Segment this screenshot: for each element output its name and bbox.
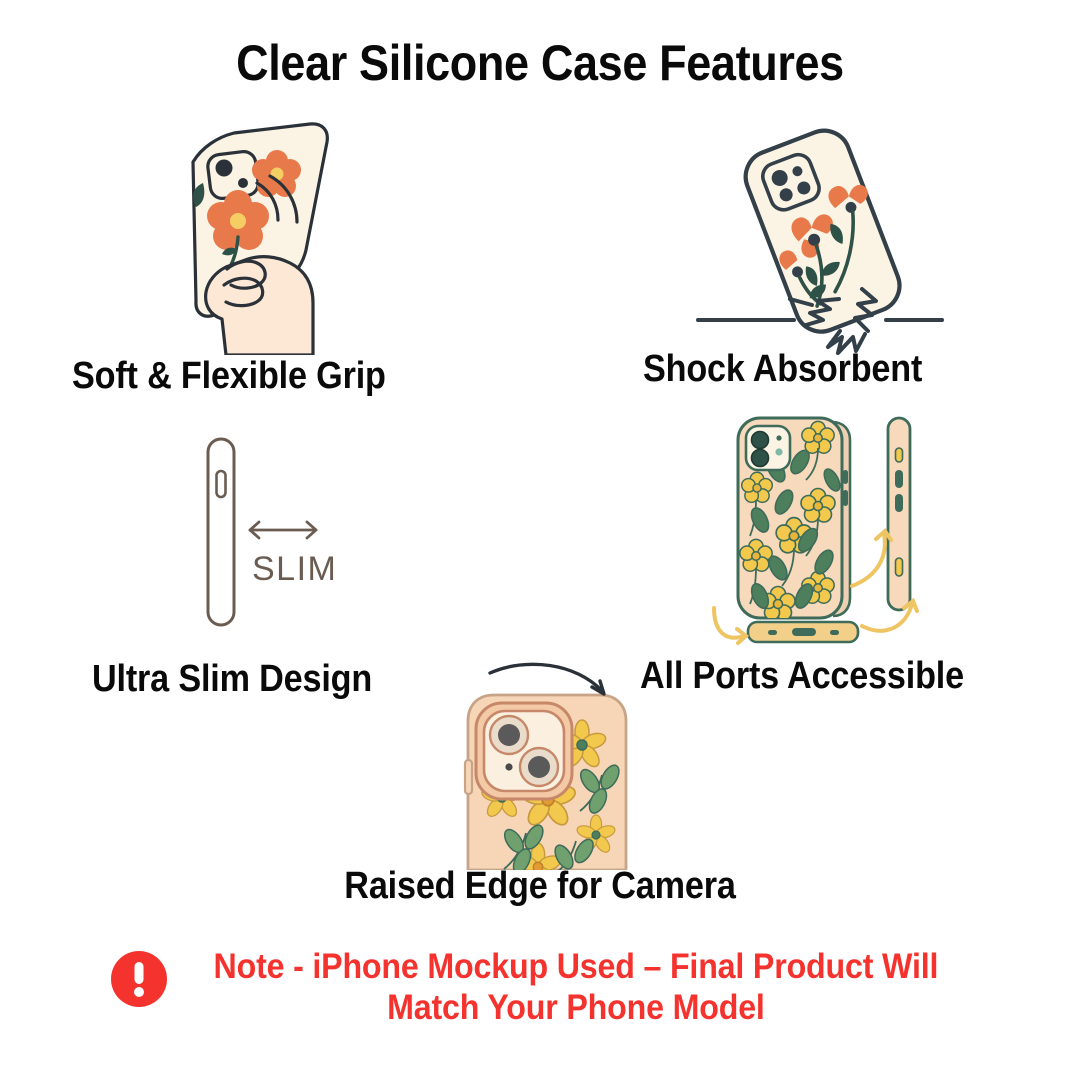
feature-label-grip: Soft & Flexible Grip [72, 355, 386, 398]
note-text: Note - iPhone Mockup Used – Final Produc… [214, 946, 939, 1029]
infographic-page: Clear Silicone Case Features [0, 0, 1080, 1080]
page-title: Clear Silicone Case Features [54, 34, 1026, 92]
note-line-1: Note - iPhone Mockup Used – Final Produc… [214, 947, 939, 986]
hand-flexing-phone-case-illustration [130, 115, 380, 355]
note-line-2: Match Your Phone Model [387, 988, 765, 1027]
phone-case-raised-camera-edge-illustration [430, 655, 650, 870]
feature-label-ports: All Ports Accessible [640, 655, 964, 698]
exclamation-circle-icon [110, 950, 168, 1008]
feature-label-camera: Raised Edge for Camera [54, 865, 1026, 908]
phone-side-profile-slim-illustration: SLIM [170, 425, 370, 640]
note-banner: Note - iPhone Mockup Used – Final Produc… [0, 946, 1080, 1029]
phone-case-impact-illustration [690, 115, 950, 355]
feature-label-slim: Ultra Slim Design [92, 658, 372, 701]
phone-case-ports-cutouts-illustration [700, 410, 950, 665]
feature-label-shock: Shock Absorbent [643, 348, 922, 391]
slim-annotation-text: SLIM [252, 550, 337, 588]
